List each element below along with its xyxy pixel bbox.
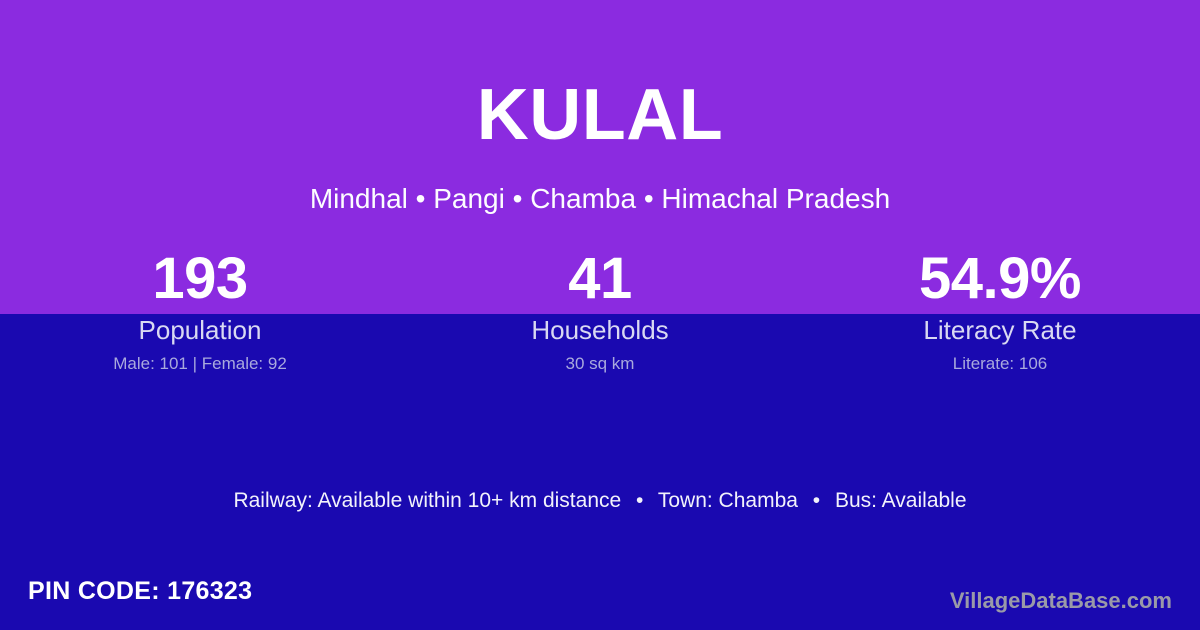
stat-population-label: Population — [0, 315, 400, 345]
pin-code: PIN CODE: 176323 — [28, 576, 252, 606]
stat-households-detail: 30 sq km — [400, 354, 800, 374]
page-title: KULAL — [0, 79, 1200, 151]
amenity-railway: Railway: Available within 10+ km distanc… — [233, 489, 621, 512]
site-brand: VillageDataBase.com — [950, 588, 1172, 614]
amenity-bus: Bus: Available — [835, 489, 967, 512]
stat-literacy: 54.9% Literacy Rate Literate: 106 — [800, 248, 1200, 374]
stat-population-detail: Male: 101 | Female: 92 — [0, 354, 400, 374]
amenity-separator-1: • — [627, 489, 652, 512]
stat-households-label: Households — [400, 315, 800, 345]
stat-households-value: 41 — [400, 248, 800, 310]
breadcrumb: Mindhal • Pangi • Chamba • Himachal Prad… — [0, 182, 1200, 216]
stat-households: 41 Households 30 sq km — [400, 248, 800, 374]
stats-row: 193 Population Male: 101 | Female: 92 41… — [0, 248, 1200, 374]
amenities-summary: Railway: Available within 10+ km distanc… — [0, 487, 1200, 515]
stat-literacy-label: Literacy Rate — [800, 315, 1200, 345]
amenity-separator-2: • — [804, 489, 829, 512]
stat-literacy-value: 54.9% — [800, 248, 1200, 310]
stat-literacy-detail: Literate: 106 — [800, 354, 1200, 374]
village-info-card: KULAL Mindhal • Pangi • Chamba • Himacha… — [0, 0, 1200, 630]
stat-population: 193 Population Male: 101 | Female: 92 — [0, 248, 400, 374]
stat-population-value: 193 — [0, 248, 400, 310]
amenity-town: Town: Chamba — [658, 489, 798, 512]
